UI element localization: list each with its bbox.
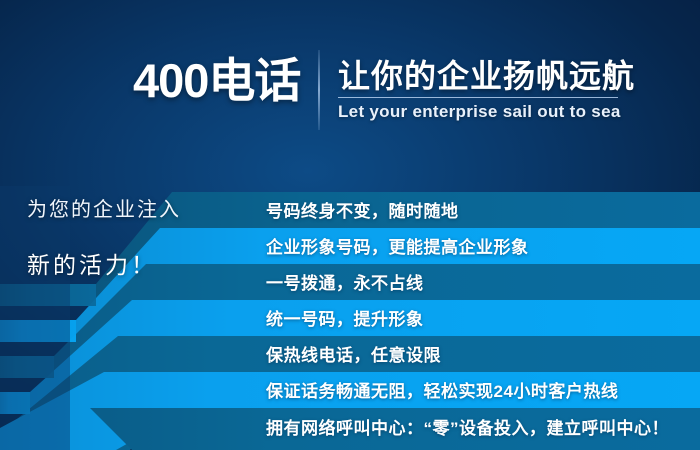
list-item: 统一号码，提升形象: [266, 310, 424, 330]
list-item: 一号拨通，永不占线: [266, 274, 424, 294]
promo-banner: 400电话 让你的企业扬帆远航 Let your enterprise sail…: [0, 0, 700, 450]
list-item: 企业形象号码，更能提高企业形象: [266, 238, 529, 258]
list-item: 拥有网络呼叫中心：“零”设备投入，建立呼叫中心！: [266, 419, 669, 439]
list-item: 保证话务畅通无阻，轻松实现24小时客户热线: [266, 382, 618, 402]
list-item: 保热线电话，任意设限: [266, 346, 441, 366]
list-item: 号码终身不变，随时随地: [266, 202, 459, 222]
feature-list: 号码终身不变，随时随地 企业形象号码，更能提高企业形象 一号拨通，永不占线 统一…: [0, 0, 700, 450]
